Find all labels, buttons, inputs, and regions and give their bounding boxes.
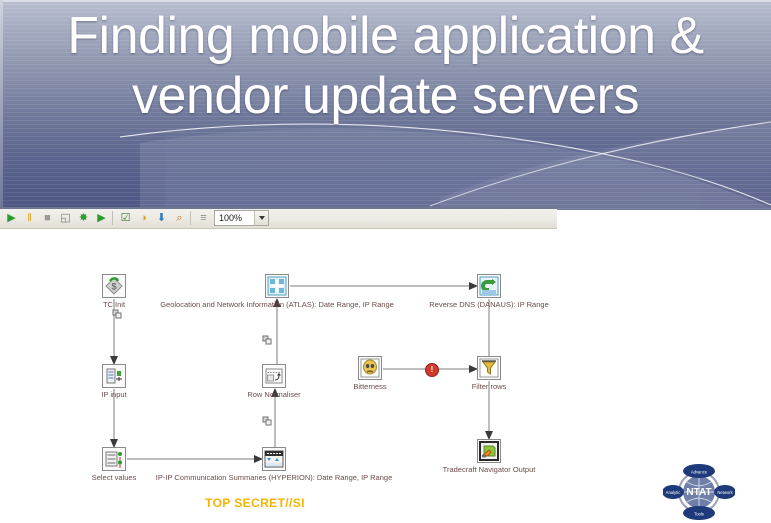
node-danaus[interactable]: Reverse DNS (DANAUS): IP Range <box>477 274 501 298</box>
impact-analysis-button[interactable]: ◑ <box>136 211 151 226</box>
node-hyperion[interactable]: IP-IP Communication Summaries (HYPERION)… <box>262 447 286 471</box>
node-label-atlas: Geolocation and Network Information (ATL… <box>160 300 394 309</box>
verify-icon: ☑ <box>121 213 131 224</box>
zoom-level-value: 100% <box>215 213 254 223</box>
node-filter-rows[interactable]: Filter rows <box>477 356 501 380</box>
classification-banner: TOP SECRET//SI <box>0 496 510 510</box>
verify-button[interactable]: ☑ <box>118 211 133 226</box>
copy-rows-hop-icon[interactable] <box>262 333 273 345</box>
row-normaliser-icon <box>262 364 286 388</box>
etl-application-window: 100% ▶‖■◱✸▶☑◑⬇⌕≡ <box>0 207 557 489</box>
inspect-icon: ⌕ <box>176 213 182 224</box>
tc-init-icon: $ <box>102 274 126 298</box>
node-select-values[interactable]: xxSelect values <box>102 447 126 471</box>
debug-icon: ✸ <box>79 213 88 224</box>
logo-badge-analytic: Analytic <box>666 490 681 495</box>
tradecraft-output-icon <box>477 439 501 463</box>
transformation-toolbar: 100% ▶‖■◱✸▶☑◑⬇⌕≡ <box>0 207 557 229</box>
grid-button[interactable]: ≡ <box>196 211 211 226</box>
pause-button[interactable]: ‖ <box>22 211 37 226</box>
run-button[interactable]: ▶ <box>4 211 19 226</box>
node-label-hyperion: IP-IP Communication Summaries (HYPERION)… <box>156 473 392 482</box>
banner-top-edge <box>0 0 771 2</box>
node-tradecraft-output[interactable]: Tradecraft Navigator Output <box>477 439 501 463</box>
node-ip-input[interactable]: IP input <box>102 364 126 388</box>
replay-button[interactable]: ▶ <box>94 211 109 226</box>
node-atlas[interactable]: Geolocation and Network Information (ATL… <box>265 274 289 298</box>
preview-icon: ◱ <box>60 213 70 224</box>
run-icon: ▶ <box>7 213 15 224</box>
copy-rows-hop-icon[interactable] <box>112 307 123 319</box>
node-label-ip-input: IP input <box>101 390 126 399</box>
svg-text:$: $ <box>111 282 116 292</box>
replay-icon: ▶ <box>97 213 105 224</box>
filter-rows-icon <box>477 356 501 380</box>
node-label-filter-rows: Filter rows <box>472 382 507 391</box>
stop-button[interactable]: ■ <box>40 211 55 226</box>
zoom-level-select[interactable]: 100% <box>214 210 269 226</box>
select-values-icon: xx <box>102 447 126 471</box>
toolbar-title-strip <box>0 207 557 209</box>
debug-button[interactable]: ✸ <box>76 211 91 226</box>
error-hop-icon[interactable]: ! <box>425 363 439 377</box>
node-bitterness[interactable]: Bitterness <box>358 356 382 380</box>
stop-icon: ■ <box>44 213 51 224</box>
chevron-down-icon[interactable] <box>254 211 268 225</box>
title-banner: Finding mobile application & vendor upda… <box>0 0 771 210</box>
hyperion-icon <box>262 447 286 471</box>
logo-badge-network: Network <box>717 490 733 495</box>
sql-icon: ⬇ <box>157 213 166 224</box>
grid-icon: ≡ <box>200 213 206 224</box>
logo-badge-tools: Tools <box>694 512 704 517</box>
node-label-row-normaliser: Row Normaliser <box>247 390 300 399</box>
logo-badge-advance: Advance <box>691 470 708 475</box>
toolbar-separator <box>112 211 113 225</box>
node-label-danaus: Reverse DNS (DANAUS): IP Range <box>429 300 548 309</box>
svg-text:x: x <box>119 464 122 469</box>
node-tc-init[interactable]: $TC Init <box>102 274 126 298</box>
logo-center-text: NTAT <box>686 487 711 498</box>
impact-analysis-icon: ◑ <box>140 213 147 224</box>
preview-button[interactable]: ◱ <box>58 211 73 226</box>
node-label-select-values: Select values <box>92 473 137 482</box>
inspect-button[interactable]: ⌕ <box>172 211 187 226</box>
transformation-canvas[interactable]: $TC InitIP inputxxSelect valuesGeolocati… <box>0 229 557 489</box>
bitterness-icon <box>358 356 382 380</box>
sql-button[interactable]: ⬇ <box>154 211 169 226</box>
page-title: Finding mobile application & vendor upda… <box>0 6 771 126</box>
copy-rows-hop-icon[interactable] <box>262 414 273 426</box>
ntat-globe-logo: Advance Tools Analytic Network NTAT <box>663 463 735 521</box>
ip-input-icon <box>102 364 126 388</box>
danaus-icon <box>477 274 501 298</box>
node-label-bitterness: Bitterness <box>353 382 386 391</box>
atlas-icon <box>265 274 289 298</box>
pause-icon: ‖ <box>27 213 32 224</box>
node-row-normaliser[interactable]: Row Normaliser <box>262 364 286 388</box>
toolbar-separator <box>190 211 191 225</box>
node-label-tradecraft-output: Tradecraft Navigator Output <box>443 465 536 474</box>
